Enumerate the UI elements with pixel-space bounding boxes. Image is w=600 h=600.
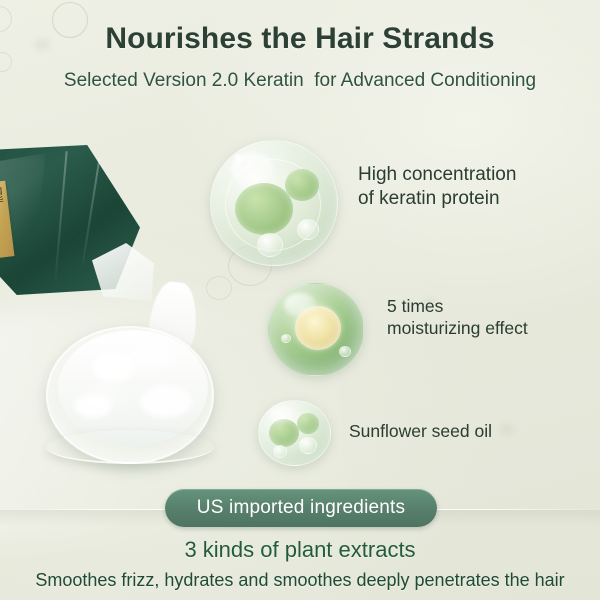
page-subtitle: Selected Version 2.0 Keratin for Advance… — [0, 70, 600, 92]
bubble-green-blob-2 — [285, 169, 319, 201]
page-title: Nourishes the Hair Strands — [0, 22, 600, 56]
product-pouch: 柔顺滋养 护发素 精华 — [0, 145, 164, 315]
feature-keratin: High concentration of keratin protein — [358, 163, 516, 212]
product-infographic: Nourishes the Hair Strands Selected Vers… — [0, 0, 600, 600]
petri-dish-rim — [46, 430, 214, 464]
feature-moisturizing: 5 times moisturizing effect — [387, 295, 528, 340]
cream-swirl-2 — [140, 386, 192, 418]
bubble-micro-5 — [339, 346, 351, 357]
feature-keratin-line2: of keratin protein — [358, 187, 516, 211]
background-ring-5 — [206, 276, 232, 300]
feature-moisturizing-line1: 5 times — [387, 295, 528, 317]
bubble-micro-2 — [257, 233, 283, 257]
cream-swirl-1 — [92, 352, 136, 382]
feature-sunflower: Sunflower seed oil — [349, 420, 492, 442]
status-badge-us-imported: US imported ingredients — [165, 489, 437, 527]
footer-headline: 3 kinds of plant extracts — [0, 537, 600, 563]
status-badge-label: US imported ingredients — [197, 497, 405, 519]
bubble-oil-core — [295, 306, 341, 350]
serum-bubble-moisturizing — [268, 283, 364, 376]
bubble-micro-1 — [297, 219, 319, 240]
bubble-micro-6 — [299, 437, 317, 454]
feature-sunflower-line1: Sunflower seed oil — [349, 420, 492, 442]
cream-swirl-3 — [74, 394, 112, 418]
bubble-green-blob-4 — [297, 413, 319, 434]
bubble-green-blob-3 — [269, 419, 299, 447]
bubble-micro-7 — [273, 445, 287, 458]
feature-keratin-line1: High concentration — [358, 163, 516, 187]
pouch-label-text-col3: 精华 — [0, 186, 8, 253]
bubble-green-blob-1 — [235, 183, 293, 235]
serum-bubble-sunflower — [258, 400, 331, 466]
footer-subline: Smoothes frizz, hydrates and smoothes de… — [0, 570, 600, 591]
background-blob-3 — [500, 424, 514, 435]
bubble-micro-3 — [233, 153, 249, 168]
serum-bubble-keratin — [210, 140, 338, 266]
cream-product — [58, 330, 208, 446]
feature-moisturizing-line2: moisturizing effect — [387, 317, 528, 339]
bubble-micro-4 — [281, 334, 291, 343]
